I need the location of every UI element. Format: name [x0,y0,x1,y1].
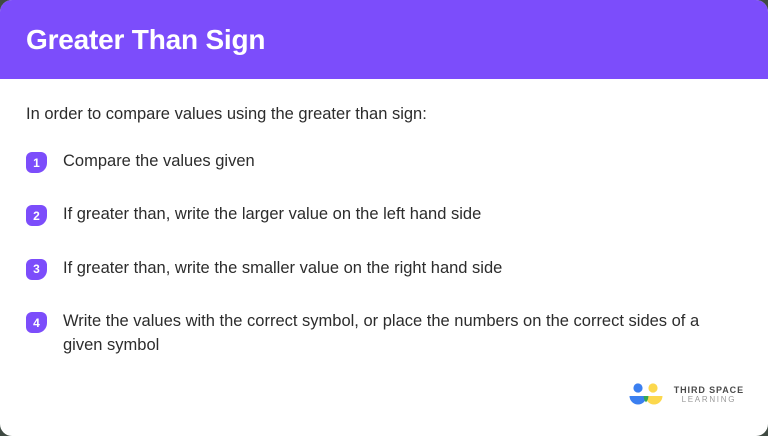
step-text: Compare the values given [63,150,255,173]
step-number-badge: 2 [26,205,47,226]
lesson-card: Greater Than Sign In order to compare va… [0,0,768,436]
list-item: 3 If greater than, write the smaller val… [26,257,746,280]
step-text: Write the values with the correct symbol… [63,310,743,357]
step-text: If greater than, write the smaller value… [63,257,502,280]
page-title: Greater Than Sign [26,26,265,54]
logo-wordmark: THIRD SPACE LEARNING [674,385,744,405]
logo-line-2: LEARNING [674,395,744,405]
two-people-icon [626,382,666,408]
step-number-badge: 3 [26,259,47,280]
step-text: If greater than, write the larger value … [63,203,481,226]
list-item: 1 Compare the values given [26,150,746,173]
logo-line-1: THIRD SPACE [674,385,744,395]
card-body: In order to compare values using the gre… [0,79,768,436]
step-number-badge: 1 [26,152,47,173]
intro-text: In order to compare values using the gre… [26,104,427,125]
brand-logo: THIRD SPACE LEARNING [626,382,744,408]
list-item: 4 Write the values with the correct symb… [26,310,746,357]
card-header: Greater Than Sign [0,0,768,79]
steps-list: 1 Compare the values given 2 If greater … [26,150,746,357]
list-item: 2 If greater than, write the larger valu… [26,203,746,226]
step-number-badge: 4 [26,312,47,333]
